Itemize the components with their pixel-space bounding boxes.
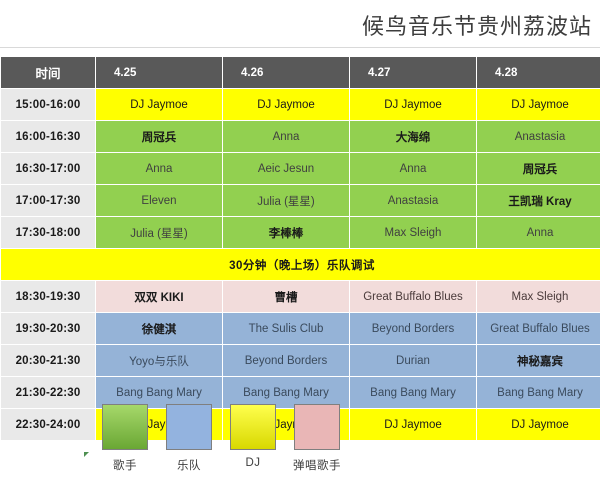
performance-cell: Anna	[350, 153, 476, 184]
time-slot-cell: 15:00-16:00	[1, 89, 95, 120]
legend-item-band: 乐队	[164, 404, 214, 473]
performance-cell: 李棒棒	[223, 217, 349, 248]
table-row: 20:30-21:30Yoyo与乐队Beyond BordersDurian神秘…	[1, 345, 600, 376]
performance-cell: Bang Bang Mary	[350, 377, 476, 408]
table-row: 17:00-17:30ElevenJulia (星星)Anastasia王凯瑞 …	[1, 185, 600, 216]
table-row: 16:00-16:30周冠兵Anna大海绵Anastasia	[1, 121, 600, 152]
performance-cell: 曹槽	[223, 281, 349, 312]
performance-cell: Anna	[477, 217, 600, 248]
performance-cell: DJ Jaymoe	[96, 89, 222, 120]
performance-cell: Great Buffalo Blues	[350, 281, 476, 312]
time-slot-cell: 18:30-19:30	[1, 281, 95, 312]
performance-cell: Beyond Borders	[350, 313, 476, 344]
title-band: 候鸟音乐节贵州荔波站	[0, 0, 600, 48]
performance-cell: Eleven	[96, 185, 222, 216]
corner-marker-icon	[84, 452, 89, 457]
performance-cell: Anastasia	[477, 121, 600, 152]
column-header-time: 时间	[1, 57, 95, 88]
legend: 歌手乐队DJ弹唱歌手	[100, 404, 342, 473]
performance-cell: 大海绵	[350, 121, 476, 152]
legend-item-singer: 歌手	[100, 404, 150, 473]
performance-cell: 王凯瑞 Kray	[477, 185, 600, 216]
performance-cell: DJ Jaymoe	[477, 409, 600, 440]
performance-cell: Great Buffalo Blues	[477, 313, 600, 344]
legend-label: 弹唱歌手	[293, 457, 341, 473]
performance-cell: 周冠兵	[96, 121, 222, 152]
column-header-day-3: 4.27	[350, 57, 476, 88]
table-row: 17:30-18:00Julia (星星)李棒棒Max SleighAnna	[1, 217, 600, 248]
performance-cell: Durian	[350, 345, 476, 376]
performance-cell: 周冠兵	[477, 153, 600, 184]
legend-label: 乐队	[177, 457, 201, 473]
column-header-day-1: 4.25	[96, 57, 222, 88]
time-slot-cell: 22:30-24:00	[1, 409, 95, 440]
column-header-day-2: 4.26	[223, 57, 349, 88]
table-row: 16:30-17:00AnnaAeic JesunAnna周冠兵	[1, 153, 600, 184]
schedule-break-row: 30分钟（晚上场）乐队调试	[1, 249, 600, 280]
performance-cell: The Sulis Club	[223, 313, 349, 344]
performance-cell: Julia (星星)	[223, 185, 349, 216]
performance-cell: Max Sleigh	[350, 217, 476, 248]
performance-cell: Bang Bang Mary	[477, 377, 600, 408]
legend-swatch-acoustic	[294, 404, 340, 450]
legend-item-acoustic: 弹唱歌手	[292, 404, 342, 473]
performance-cell: 徐健淇	[96, 313, 222, 344]
schedule-table-header: 时间 4.25 4.26 4.27 4.28	[1, 57, 600, 88]
time-slot-cell: 16:30-17:00	[1, 153, 95, 184]
performance-cell: Beyond Borders	[223, 345, 349, 376]
time-slot-cell: 21:30-22:30	[1, 377, 95, 408]
legend-swatch-dj	[230, 404, 276, 450]
table-row: 19:30-20:30徐健淇The Sulis ClubBeyond Borde…	[1, 313, 600, 344]
legend-swatch-band	[166, 404, 212, 450]
time-slot-cell: 17:00-17:30	[1, 185, 95, 216]
page-title: 候鸟音乐节贵州荔波站	[362, 9, 592, 41]
performance-cell: Anna	[223, 121, 349, 152]
legend-label: 歌手	[113, 457, 137, 473]
legend-item-dj: DJ	[228, 404, 278, 473]
time-slot-cell: 17:30-18:00	[1, 217, 95, 248]
time-slot-cell: 20:30-21:30	[1, 345, 95, 376]
time-slot-cell: 19:30-20:30	[1, 313, 95, 344]
performance-cell: 神秘嘉宾	[477, 345, 600, 376]
performance-cell: DJ Jaymoe	[350, 409, 476, 440]
performance-cell: Max Sleigh	[477, 281, 600, 312]
legend-swatch-singer	[102, 404, 148, 450]
column-header-day-4: 4.28	[477, 57, 600, 88]
schedule-table-container: 时间 4.25 4.26 4.27 4.28 15:00-16:00DJ Jay…	[0, 56, 600, 441]
legend-label: DJ	[245, 457, 260, 469]
performance-cell: Aeic Jesun	[223, 153, 349, 184]
header-row: 时间 4.25 4.26 4.27 4.28	[1, 57, 600, 88]
performance-cell: 双双 KIKI	[96, 281, 222, 312]
time-slot-cell: 16:00-16:30	[1, 121, 95, 152]
performance-cell: DJ Jaymoe	[350, 89, 476, 120]
performance-cell: Anna	[96, 153, 222, 184]
performance-cell: Julia (星星)	[96, 217, 222, 248]
schedule-table-body: 15:00-16:00DJ JaymoeDJ JaymoeDJ JaymoeDJ…	[1, 89, 600, 440]
schedule-table: 时间 4.25 4.26 4.27 4.28 15:00-16:00DJ Jay…	[0, 56, 600, 441]
table-row: 15:00-16:00DJ JaymoeDJ JaymoeDJ JaymoeDJ…	[1, 89, 600, 120]
table-row: 18:30-19:30双双 KIKI曹槽Great Buffalo BluesM…	[1, 281, 600, 312]
break-label: 30分钟（晚上场）乐队调试	[1, 249, 600, 280]
performance-cell: DJ Jaymoe	[223, 89, 349, 120]
performance-cell: Anastasia	[350, 185, 476, 216]
performance-cell: Yoyo与乐队	[96, 345, 222, 376]
performance-cell: DJ Jaymoe	[477, 89, 600, 120]
